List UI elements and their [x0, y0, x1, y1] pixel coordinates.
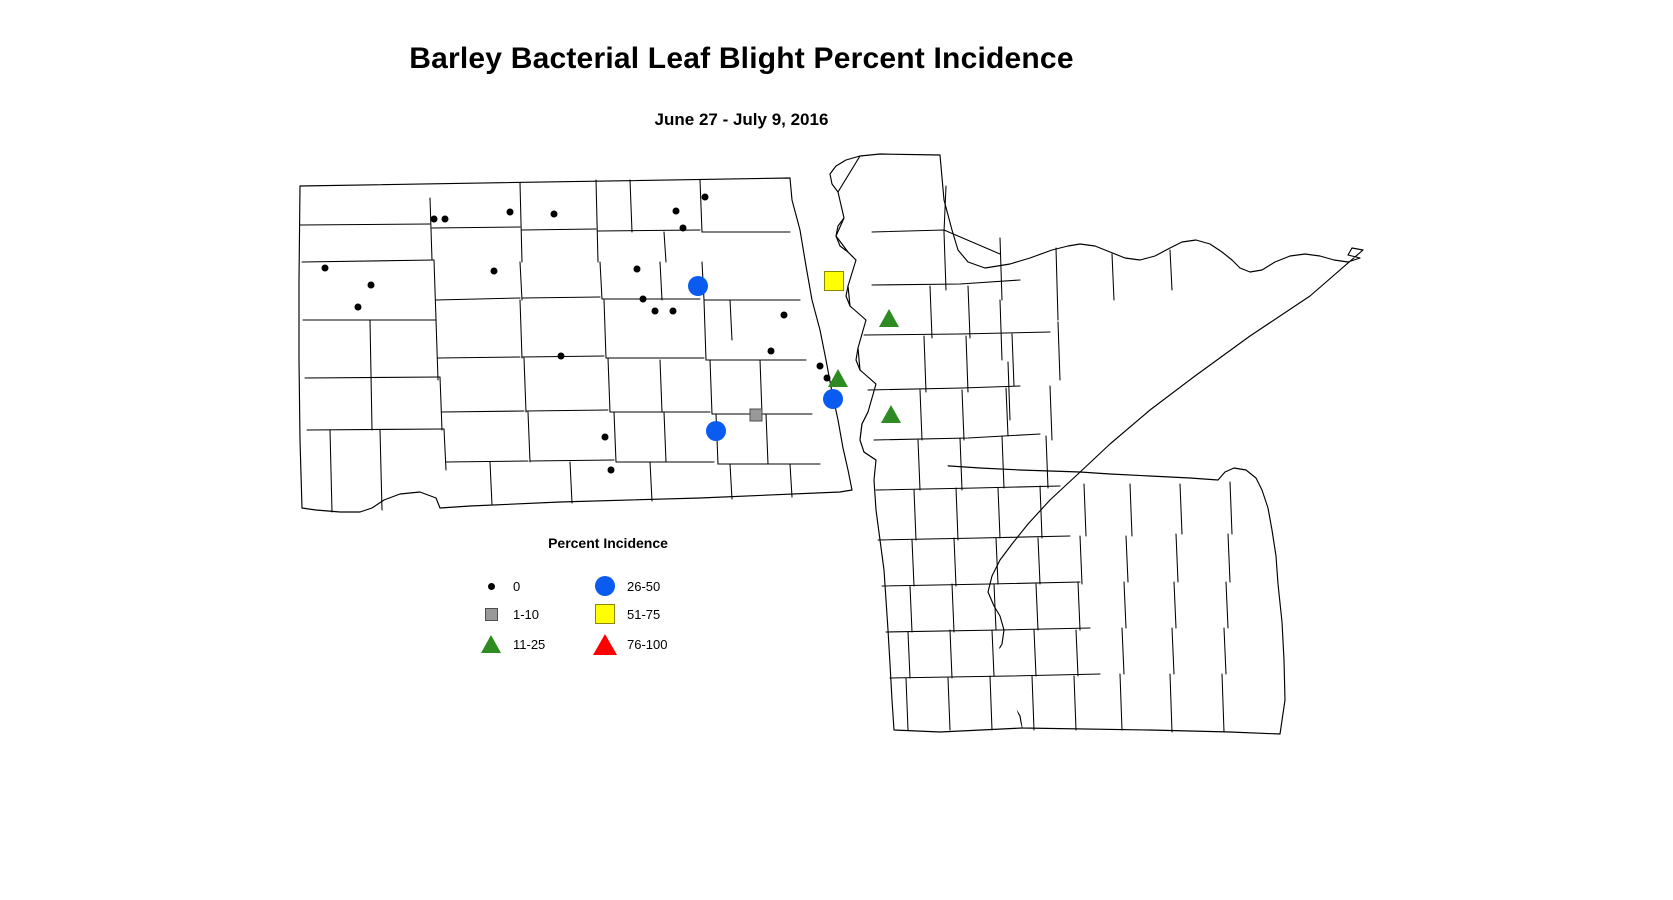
map-data-point: [507, 209, 514, 216]
legend-label-26-50: 26-50: [627, 579, 660, 594]
legend-entry-26-50: 26-50: [592, 575, 660, 597]
dot-marker-icon: [670, 308, 677, 315]
dot-marker-icon: [551, 211, 558, 218]
legend-swatch-76-100: [592, 634, 618, 655]
triangle-red-marker-icon: [593, 634, 617, 655]
state-boundaries-map: [0, 0, 1673, 900]
legend-entry-51-75: 51-75: [592, 603, 660, 625]
map-data-point: [828, 369, 848, 387]
dot-marker-icon: [322, 265, 329, 272]
map-data-point: [817, 363, 824, 370]
dot-marker-icon: [634, 266, 641, 273]
map-data-point: [431, 216, 438, 223]
map-data-point: [881, 405, 901, 423]
north-dakota-outline: [299, 178, 852, 512]
map-data-point: [879, 309, 899, 327]
dot-marker-icon: [602, 434, 609, 441]
legend-entry-0: 0: [478, 575, 520, 597]
triangle-marker-icon: [881, 405, 901, 423]
map-canvas: [0, 0, 1673, 900]
map-page: Barley Bacterial Leaf Blight Percent Inc…: [0, 0, 1673, 900]
legend-swatch-1-10: [478, 608, 504, 621]
dot-marker-icon: [817, 363, 824, 370]
map-data-point: [442, 216, 449, 223]
dot-marker-icon: [781, 312, 788, 319]
dot-marker-icon: [491, 268, 498, 275]
dot-marker-icon: [702, 194, 709, 201]
map-data-point: [355, 304, 362, 311]
dot-marker-icon: [680, 225, 687, 232]
map-data-point: [823, 389, 843, 409]
map-data-point: [634, 266, 641, 273]
dot-marker-icon: [442, 216, 449, 223]
map-data-point: [491, 268, 498, 275]
dot-marker-icon: [652, 308, 659, 315]
map-data-point: [652, 308, 659, 315]
map-data-point: [768, 348, 775, 355]
dot-marker-icon: [673, 208, 680, 215]
map-data-point: [558, 353, 565, 360]
legend-label-11-25: 11-25: [513, 637, 545, 652]
square-marker-icon: [750, 409, 763, 422]
map-data-point: [680, 225, 687, 232]
legend-entry-11-25: 11-25: [478, 633, 545, 655]
dot-marker-icon: [608, 467, 615, 474]
legend-title: Percent Incidence: [478, 535, 738, 551]
square-marker-icon: [485, 608, 498, 621]
legend-label-76-100: 76-100: [627, 637, 667, 652]
map-data-point: [670, 308, 677, 315]
legend-swatch-26-50: [592, 576, 618, 596]
legend-label-1-10: 1-10: [513, 607, 539, 622]
circle-marker-icon: [706, 421, 726, 441]
map-data-point: [608, 467, 615, 474]
map-data-point: [640, 296, 647, 303]
dot-marker-icon: [368, 282, 375, 289]
map-legend: Percent Incidence 01-1011-2526-5051-7576…: [478, 535, 738, 665]
dot-marker-icon: [640, 296, 647, 303]
dot-marker-icon: [558, 353, 565, 360]
square-yellow-marker-icon: [595, 604, 615, 624]
legend-swatch-11-25: [478, 635, 504, 653]
legend-swatch-51-75: [592, 604, 618, 624]
dot-marker-icon: [488, 583, 495, 590]
circle-marker-icon: [595, 576, 615, 596]
map-data-point: [673, 208, 680, 215]
legend-swatch-0: [478, 583, 504, 590]
dot-marker-icon: [431, 216, 438, 223]
map-data-point: [602, 434, 609, 441]
dot-marker-icon: [355, 304, 362, 311]
triangle-marker-icon: [828, 369, 848, 387]
legend-entry-76-100: 76-100: [592, 633, 667, 655]
square-yellow-marker-icon: [824, 271, 844, 291]
map-data-point: [781, 312, 788, 319]
circle-marker-icon: [823, 389, 843, 409]
legend-entries: 01-1011-2526-5051-7576-100: [478, 575, 738, 665]
map-data-point: [688, 276, 708, 296]
triangle-marker-icon: [481, 635, 501, 653]
map-data-point: [551, 211, 558, 218]
legend-entry-1-10: 1-10: [478, 603, 539, 625]
triangle-marker-icon: [879, 309, 899, 327]
map-data-point: [750, 409, 763, 422]
dot-marker-icon: [507, 209, 514, 216]
circle-marker-icon: [688, 276, 708, 296]
map-data-point: [824, 271, 844, 291]
map-data-point: [706, 421, 726, 441]
legend-label-51-75: 51-75: [627, 607, 660, 622]
map-data-point: [322, 265, 329, 272]
map-data-point: [368, 282, 375, 289]
dot-marker-icon: [768, 348, 775, 355]
legend-label-0: 0: [513, 579, 520, 594]
map-data-point: [702, 194, 709, 201]
